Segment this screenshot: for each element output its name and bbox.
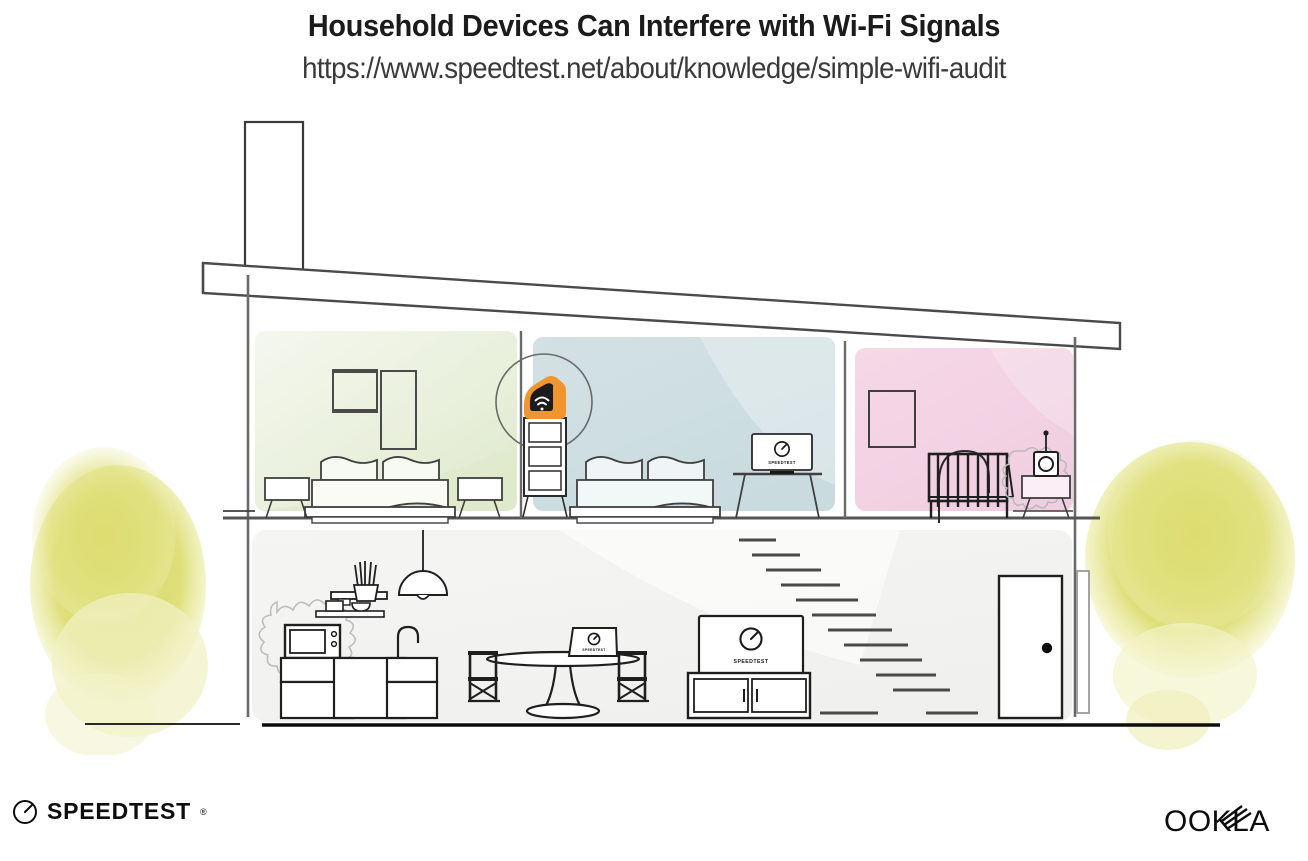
tree-left xyxy=(30,447,208,755)
nightstand-left xyxy=(265,478,309,518)
tv-screen-label: SPEEDTEST xyxy=(734,659,769,665)
door-knob xyxy=(1042,643,1052,653)
ookla-wordmark-svg: OOKLA xyxy=(1164,802,1308,842)
ground-line xyxy=(85,724,1220,725)
ookla-logo[interactable]: OOKLA xyxy=(1164,802,1308,847)
nightstand-right xyxy=(458,478,502,518)
desktop-monitor[interactable]: SPEEDTEST xyxy=(752,434,812,474)
side-panel-window xyxy=(1077,571,1089,713)
tree-right xyxy=(1085,440,1295,750)
speedtest-wordmark: SPEEDTEST xyxy=(47,798,191,825)
house-cutaway-svg: SPEEDTEST xyxy=(0,105,1308,755)
speedtest-logo[interactable]: SPEEDTEST ® xyxy=(12,798,207,825)
speedtest-trademark: ® xyxy=(200,807,207,817)
house-illustration: SPEEDTEST xyxy=(0,105,1308,755)
blue-bedroom: SPEEDTEST xyxy=(496,337,835,523)
wifi-router[interactable] xyxy=(524,376,566,419)
microwave[interactable] xyxy=(285,625,340,658)
media-console xyxy=(688,673,810,718)
laptop[interactable]: SPEEDTEST xyxy=(569,628,617,656)
ookla-wordmark-text: OOKLA xyxy=(1164,805,1270,838)
kitchen-counter xyxy=(281,658,437,718)
infographic-canvas: Household Devices Can Interfere with Wi-… xyxy=(0,0,1308,861)
green-bedroom xyxy=(223,331,517,523)
front-door[interactable] xyxy=(999,576,1062,718)
chimney xyxy=(245,122,303,275)
page-title: Household Devices Can Interfere with Wi-… xyxy=(46,8,1262,44)
monitor-screen-label: SPEEDTEST xyxy=(768,460,796,465)
source-url: https://www.speedtest.net/about/knowledg… xyxy=(52,52,1255,86)
footer: SPEEDTEST ® OOKLA xyxy=(0,780,1308,861)
laptop-screen-label: SPEEDTEST xyxy=(582,648,606,652)
lower-floor: SPEEDTEST xyxy=(252,530,1089,722)
speedometer-icon xyxy=(12,799,38,825)
